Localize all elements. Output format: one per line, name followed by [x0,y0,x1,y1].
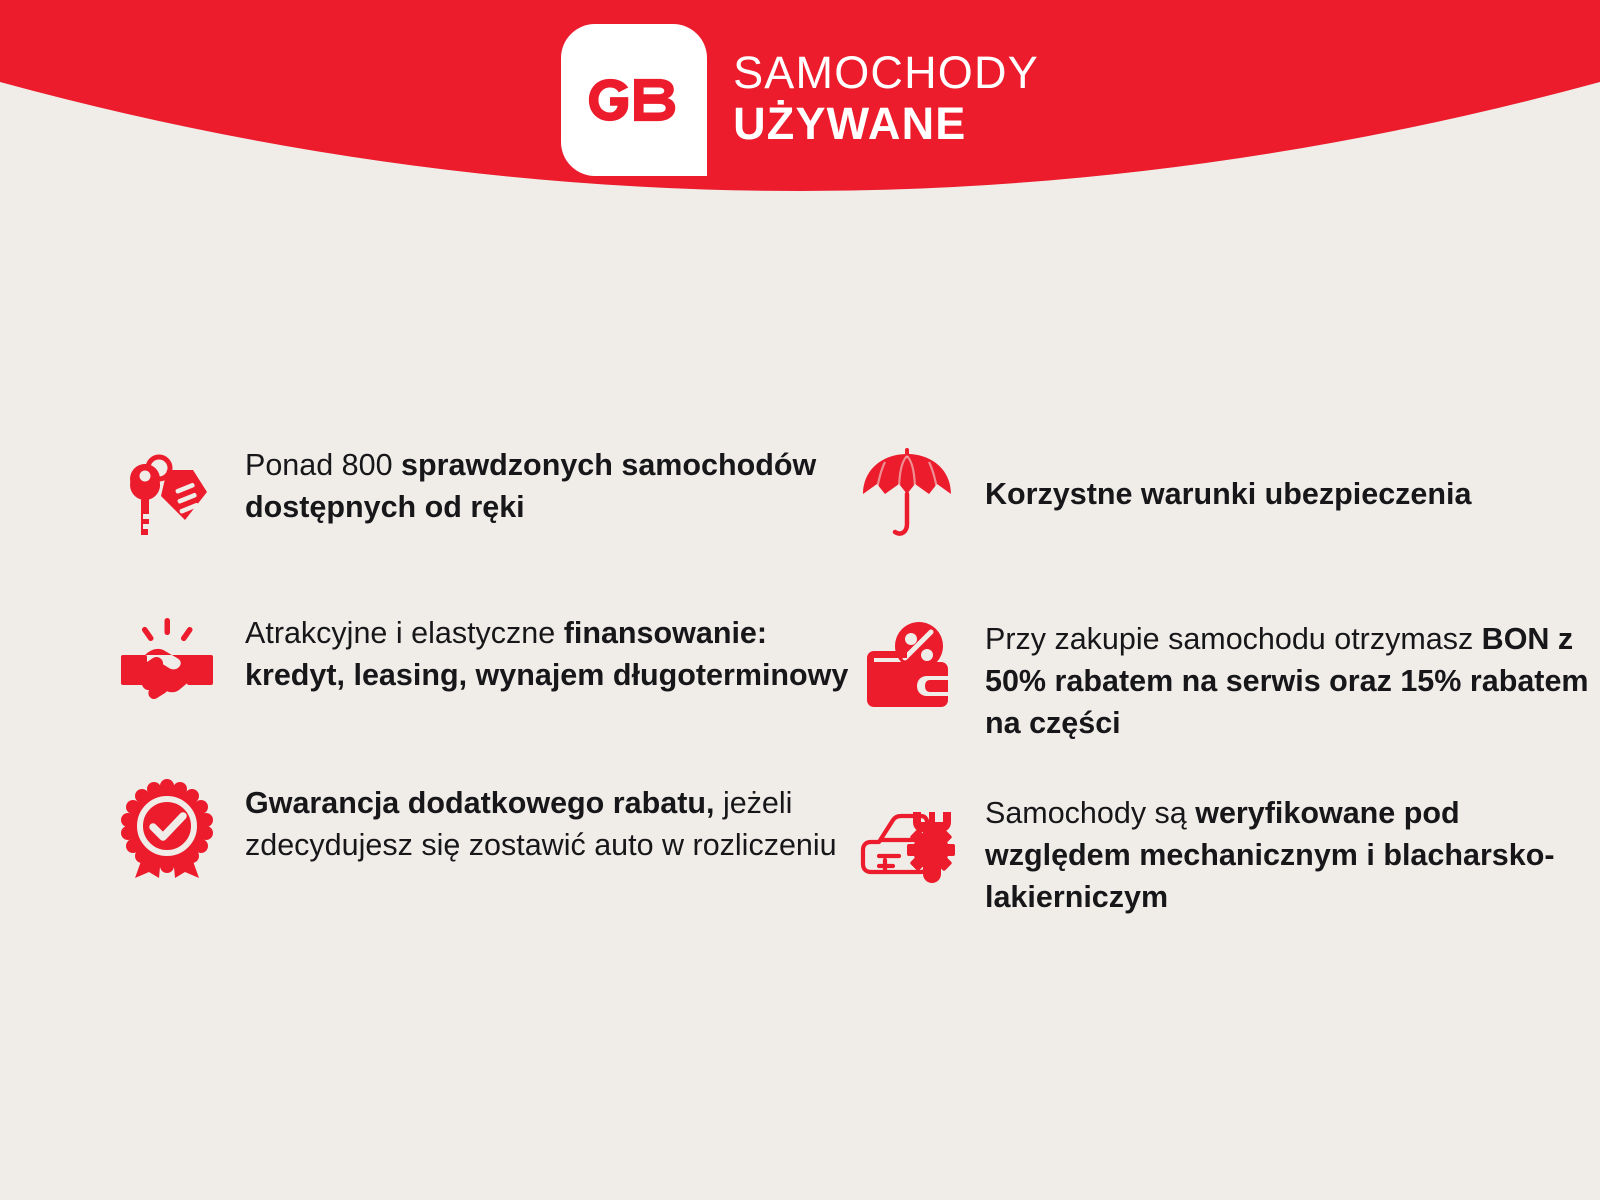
feature-text-part-bold: Korzystne warunki ubezpieczenia [985,477,1471,511]
feature-text-voucher: Przy zakupie samochodu otrzymasz BON z 5… [985,614,1600,744]
feature-item-keys: Ponad 800 sprawdzonych samochodów dostęp… [115,440,855,544]
feature-text-part-regular: Ponad 800 [245,448,401,482]
car-wrench-gear-icon [855,788,959,892]
header-banner: SAMOCHODY UŻYWANE [0,0,1600,250]
brand-line-2: UŻYWANE [733,101,1039,146]
feature-item-voucher: Przy zakupie samochodu otrzymasz BON z 5… [855,614,1600,744]
feature-text-verification: Samochody są weryfikowane pod względem m… [985,788,1600,918]
feature-text-part-regular: Atrakcyjne i elastyczne [245,616,564,650]
feature-text-financing: Atrakcyjne i elastyczne finansowanie: kr… [245,608,855,696]
feature-item-verification: Samochody są weryfikowane pod względem m… [855,788,1600,918]
umbrella-icon [855,440,959,544]
feature-text-part-regular: Przy zakupie samochodu otrzymasz [985,622,1482,656]
award-badge-check-icon [115,778,219,882]
handshake-icon [115,608,219,712]
feature-text-guarantee: Gwarancja dodatkowego rabatu, jeżeli zde… [245,778,855,866]
feature-item-financing: Atrakcyjne i elastyczne finansowanie: kr… [115,608,855,712]
wallet-percent-icon [855,614,959,718]
feature-item-insurance: Korzystne warunki ubezpieczenia [855,440,1600,544]
feature-text-insurance: Korzystne warunki ubezpieczenia [985,469,1471,515]
feature-text-keys: Ponad 800 sprawdzonych samochodów dostęp… [245,440,855,528]
brand-line-1: SAMOCHODY [733,50,1039,95]
feature-item-guarantee: Gwarancja dodatkowego rabatu, jeżeli zde… [115,778,855,882]
feature-grid: Ponad 800 sprawdzonych samochodów dostęp… [0,440,1600,918]
feature-text-part-bold: Gwarancja dodatkowego rabatu, [245,786,714,820]
brand-wordmark: SAMOCHODY UŻYWANE [733,50,1039,150]
feature-text-part-regular: Samochody są [985,796,1195,830]
feature-column-right: Korzystne warunki ubezpieczenia [855,440,1600,918]
car-keys-icon [115,440,219,544]
logo-mark[interactable] [561,24,707,176]
feature-column-left: Ponad 800 sprawdzonych samochodów dostęp… [115,440,855,918]
brand-lockup: SAMOCHODY UŻYWANE [0,0,1600,200]
gb-monogram-icon [585,76,683,124]
